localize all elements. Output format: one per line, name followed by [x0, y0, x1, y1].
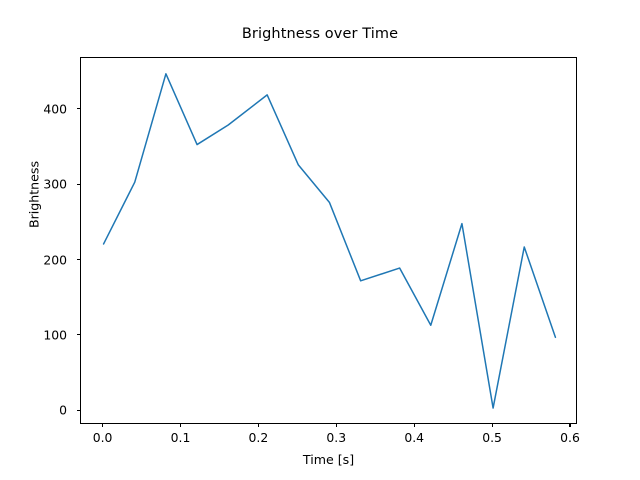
chart-title: Brightness over Time [0, 26, 640, 42]
x-tick-label: 0.1 [150, 430, 210, 445]
x-axis-label: Time [s] [80, 452, 577, 467]
x-tick-label: 0.3 [306, 430, 366, 445]
plot-area [80, 57, 577, 424]
y-tick-label: 0 [7, 403, 67, 418]
y-tick-label: 400 [7, 101, 67, 116]
figure-canvas: Brightness over Time Brightness Time [s]… [0, 0, 640, 480]
y-tick-label: 100 [7, 327, 67, 342]
x-tick-label: 0.4 [384, 430, 444, 445]
brightness-line-series [104, 74, 556, 408]
y-tick-label: 300 [7, 177, 67, 192]
x-tick-label: 0.2 [228, 430, 288, 445]
x-tick-label: 0.6 [540, 430, 600, 445]
data-line-svg [81, 58, 578, 425]
x-tick-label: 0.5 [462, 430, 522, 445]
x-tick-label: 0.0 [73, 430, 133, 445]
y-tick-label: 200 [7, 252, 67, 267]
